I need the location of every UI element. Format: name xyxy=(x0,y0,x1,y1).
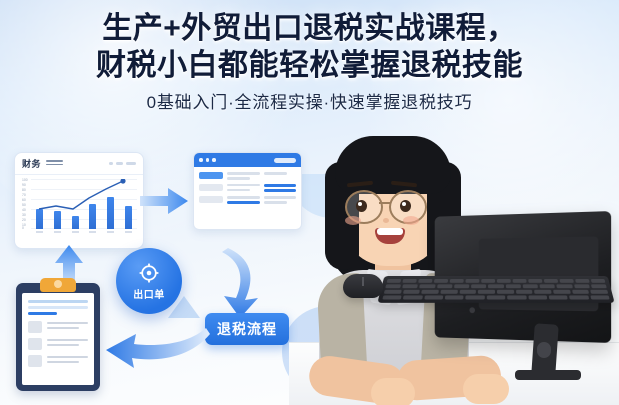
cheek-right xyxy=(403,216,419,225)
tax-form-window[interactable] xyxy=(193,152,302,230)
export-doc-badge[interactable]: 出口单 xyxy=(116,248,182,314)
keyboard xyxy=(377,276,614,303)
arrow-down-curved-icon xyxy=(214,246,274,320)
doc-thumb xyxy=(28,338,42,350)
table-cell xyxy=(227,196,260,204)
nose xyxy=(383,218,389,223)
window-table xyxy=(194,167,301,209)
arrow-right-icon xyxy=(138,184,190,218)
chart-trend-line xyxy=(31,179,131,229)
eye-right xyxy=(400,200,411,212)
doc-line xyxy=(28,306,88,309)
doc-row xyxy=(28,338,88,350)
monitor-base xyxy=(515,370,581,380)
window-title-bar xyxy=(194,153,301,167)
chart-plot-area: 1009080 706050 403020 100 xyxy=(22,179,137,242)
chart-card-header: 财务 xyxy=(15,153,143,175)
doc-line xyxy=(28,300,88,303)
chart-header-rule-icon xyxy=(46,160,63,167)
doc-row xyxy=(28,321,88,333)
hand-right xyxy=(463,374,509,404)
window-dot-icon xyxy=(212,158,216,162)
headline-subtitle: 0基础入门·全流程实操·快速掌握退税技巧 xyxy=(0,92,619,114)
table-cell xyxy=(199,184,223,193)
window-dot-icon xyxy=(206,158,210,162)
clipboard-paper xyxy=(22,293,94,385)
monitor-stand-knob xyxy=(537,342,551,358)
table-cell xyxy=(199,196,223,204)
computer-mouse xyxy=(343,274,383,298)
table-cell xyxy=(199,172,223,180)
headline-line-2: 财税小白都能轻松掌握退税技能 xyxy=(0,47,619,84)
chart-x-axis-labels xyxy=(31,231,137,233)
doc-progress-line xyxy=(28,312,57,315)
monitor-screw-dot xyxy=(469,307,475,313)
highlight-chip xyxy=(199,172,223,179)
target-gear-icon xyxy=(138,262,160,284)
doc-row xyxy=(28,355,88,367)
table-cell xyxy=(227,184,260,193)
doc-rows xyxy=(28,321,88,367)
export-doc-label: 出口单 xyxy=(133,286,165,301)
promo-poster: 生产+外贸出口退税实战课程， 财税小白都能轻松掌握退税技能 0基础入门·全流程实… xyxy=(0,0,619,405)
grey-chip xyxy=(199,196,223,203)
chart-y-axis-labels: 1009080 706050 403020 100 xyxy=(22,179,30,229)
finance-chart-card: 财务 1009080 706050 403020 100 xyxy=(14,152,144,249)
doc-thumb xyxy=(28,321,42,333)
process-illustration: 财务 1009080 706050 403020 100 xyxy=(0,138,320,405)
hand-left xyxy=(371,378,415,405)
tax-document-clipboard xyxy=(16,283,100,391)
headline-block: 生产+外贸出口退税实战课程， 财税小白都能轻松掌握退税技能 0基础入门·全流程实… xyxy=(0,10,619,114)
chart-card-title: 财务 xyxy=(22,157,41,170)
headline-line-1: 生产+外贸出口退税实战课程， xyxy=(0,10,619,47)
tax-refund-process-button[interactable]: 退税流程 xyxy=(205,313,289,345)
window-dot-icon xyxy=(199,158,203,162)
clipboard-clip-icon xyxy=(40,278,76,292)
teeth xyxy=(377,228,403,235)
arrow-left-curved-icon xyxy=(98,328,213,376)
chart-header-dots xyxy=(109,162,136,165)
table-cell xyxy=(227,172,260,180)
eye-left xyxy=(356,200,367,212)
glasses-bridge xyxy=(379,202,391,204)
doc-thumb xyxy=(28,355,42,367)
cheek-left xyxy=(345,216,361,225)
keyboard-keys xyxy=(382,279,609,299)
grey-chip xyxy=(199,184,223,191)
